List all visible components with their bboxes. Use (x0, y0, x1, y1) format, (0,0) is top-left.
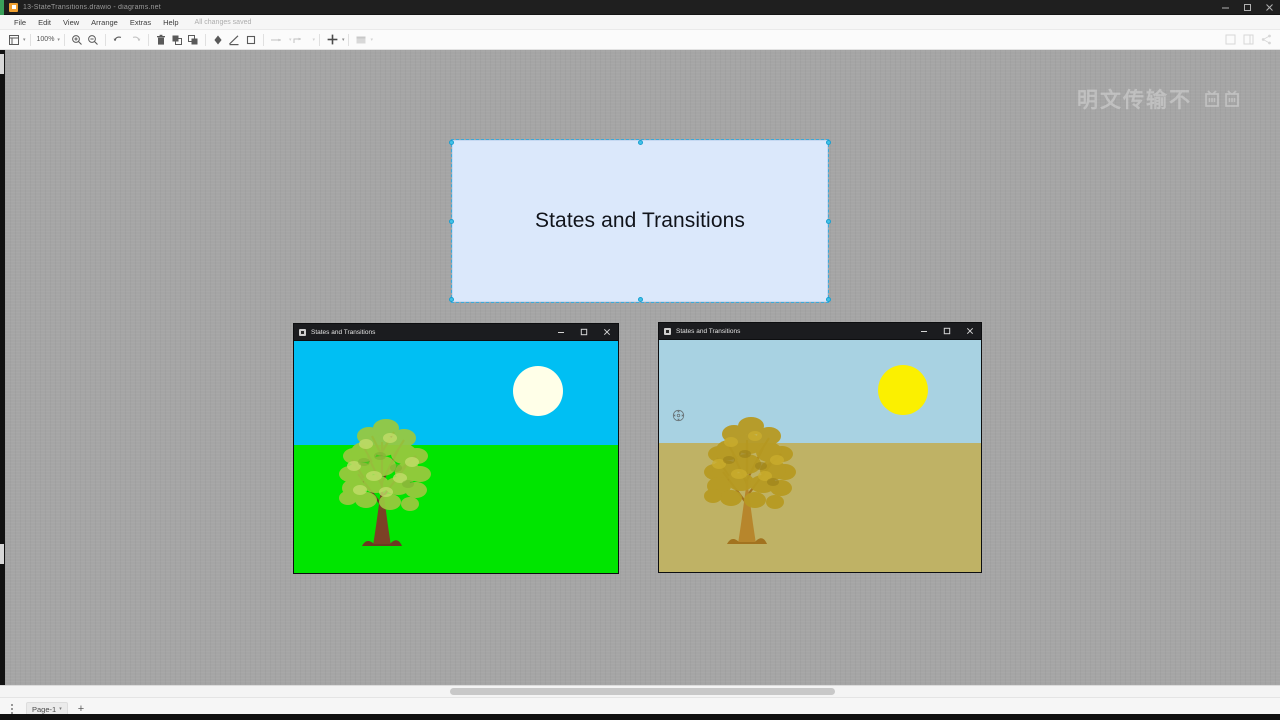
horizontal-scrollbar-thumb[interactable] (450, 688, 835, 695)
app-window-icon (664, 328, 671, 335)
outline-panel-icon[interactable] (1240, 31, 1256, 49)
bring-to-front-icon[interactable] (169, 31, 185, 49)
bilibili-watermark-text: 明文传输不 (1077, 84, 1192, 114)
window-summer-close-icon[interactable] (595, 324, 618, 341)
close-icon[interactable] (1258, 0, 1280, 15)
zoom-level-label[interactable]: 100% (35, 36, 57, 43)
resize-handle-se[interactable] (826, 297, 831, 302)
window-summer-controls (549, 324, 618, 341)
autumn-tree (689, 384, 809, 544)
table-caret-icon[interactable]: ▾ (370, 37, 373, 43)
resize-handle-ne[interactable] (826, 140, 831, 145)
insert-plus-icon[interactable] (324, 31, 341, 49)
diagram-canvas[interactable]: States and Transitions States and Transi… (0, 50, 1280, 685)
shape-label: States and Transitions (535, 209, 745, 233)
resize-handle-nw[interactable] (449, 140, 454, 145)
window-autumn-maximize-icon[interactable] (935, 323, 958, 340)
window-summer[interactable]: States and Transitions (293, 323, 619, 574)
os-window-controls (1214, 0, 1280, 15)
horizontal-scrollbar[interactable] (0, 685, 1280, 697)
move-cursor (672, 409, 685, 422)
menu-extras[interactable]: Extras (124, 15, 157, 30)
maximize-icon[interactable] (1236, 0, 1258, 15)
insert-caret-icon[interactable]: ▾ (342, 37, 345, 43)
resize-handle-e[interactable] (826, 219, 831, 224)
undo-icon[interactable] (110, 31, 127, 49)
menu-view[interactable]: View (57, 15, 85, 30)
drawio-icon (9, 3, 18, 12)
menubar: File Edit View Arrange Extras Help All c… (0, 15, 1280, 30)
app-root: 13-StateTransitions.drawio - diagrams.ne… (0, 0, 1280, 720)
menu-edit[interactable]: Edit (32, 15, 57, 30)
toolbar-divider-4 (148, 34, 149, 46)
window-title: 13-StateTransitions.drawio - diagrams.ne… (23, 4, 161, 11)
zoom-in-icon[interactable] (69, 31, 85, 49)
bottom-black-bar (0, 714, 1280, 720)
toolbar-divider-7 (319, 34, 320, 46)
toolbar: ▾ 100% ▾ (0, 30, 1280, 50)
bilibili-watermark: 明文传输不 (1077, 84, 1248, 114)
os-titlebar: 13-StateTransitions.drawio - diagrams.ne… (0, 0, 1280, 15)
zoom-out-icon[interactable] (85, 31, 101, 49)
menu-help[interactable]: Help (157, 15, 184, 30)
chevron-down-icon[interactable]: ▾ (59, 706, 62, 712)
trash-icon[interactable] (153, 31, 169, 49)
menu-arrange[interactable]: Arrange (85, 15, 124, 30)
summer-tree (324, 386, 444, 546)
waypoint-caret-icon[interactable]: ▾ (312, 37, 315, 43)
send-to-back-icon[interactable] (185, 31, 201, 49)
resize-handle-s[interactable] (638, 297, 643, 302)
window-summer-title: States and Transitions (311, 329, 375, 336)
page-tab-label: Page-1 (32, 705, 56, 714)
canvas-left-rail (0, 50, 5, 685)
window-autumn-close-icon[interactable] (958, 323, 981, 340)
resize-handle-sw[interactable] (449, 297, 454, 302)
shape-states-and-transitions[interactable]: States and Transitions (452, 140, 828, 302)
scene-autumn (658, 339, 982, 573)
window-summer-titlebar[interactable]: States and Transitions (293, 323, 619, 340)
scene-summer (293, 340, 619, 574)
accent-stripe (0, 0, 4, 15)
fill-color-icon[interactable] (210, 31, 226, 49)
shape-style-icon[interactable] (243, 31, 259, 49)
page-menu-icon[interactable] (6, 704, 18, 714)
minimize-icon[interactable] (1214, 0, 1236, 15)
connection-arrow-icon[interactable] (268, 31, 288, 49)
window-autumn[interactable]: States and Transitions (658, 322, 982, 573)
redo-icon[interactable] (127, 31, 144, 49)
menu-file[interactable]: File (8, 15, 32, 30)
canvas-rail-nub-top (0, 54, 4, 74)
toolbar-divider-5 (205, 34, 206, 46)
window-summer-minimize-icon[interactable] (549, 324, 572, 341)
waypoint-icon[interactable] (291, 31, 311, 49)
toolbar-right-group (1222, 31, 1274, 49)
toolbar-divider-3 (105, 34, 106, 46)
resize-handle-w[interactable] (449, 219, 454, 224)
window-autumn-title: States and Transitions (676, 328, 740, 335)
zoom-caret-icon[interactable]: ▾ (57, 37, 60, 43)
format-panel-icon[interactable] (1222, 31, 1238, 49)
toolbar-divider-8 (348, 34, 349, 46)
toolbar-divider-2 (64, 34, 65, 46)
autumn-sun (878, 365, 928, 415)
add-page-button[interactable]: + (74, 704, 88, 715)
save-status-text: All changes saved (195, 19, 252, 26)
bilibili-logo (1202, 88, 1248, 110)
canvas-rail-nub-bottom (0, 544, 4, 564)
app-window-icon (299, 329, 306, 336)
window-autumn-minimize-icon[interactable] (912, 323, 935, 340)
toolbar-divider-1 (30, 34, 31, 46)
resize-handle-n[interactable] (638, 140, 643, 145)
table-icon[interactable] (353, 31, 369, 49)
window-autumn-titlebar[interactable]: States and Transitions (658, 322, 982, 339)
share-icon[interactable] (1258, 31, 1274, 49)
toolbar-divider-6 (263, 34, 264, 46)
summer-sun (513, 366, 563, 416)
line-color-icon[interactable] (226, 31, 243, 49)
window-summer-maximize-icon[interactable] (572, 324, 595, 341)
page-view-icon[interactable] (6, 31, 22, 49)
page-view-caret-icon[interactable]: ▾ (23, 37, 26, 43)
window-autumn-controls (912, 323, 981, 340)
